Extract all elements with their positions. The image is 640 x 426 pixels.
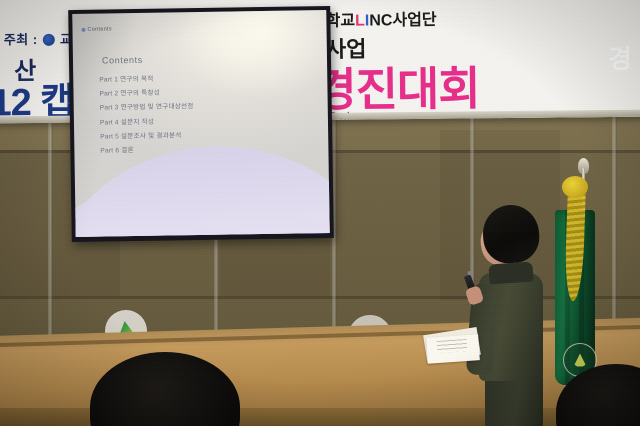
slide-list-item: Part 3 연구방법 및 연구대상선정 <box>100 100 194 111</box>
paper-text-lines <box>437 339 468 353</box>
flag-tassel-knot-icon <box>562 176 588 198</box>
projected-slide: Contents Contents Part 1 연구의 목적 Part 2 연… <box>72 10 329 237</box>
slide-list-item: Part 4 설문지 작성 <box>100 115 194 126</box>
projection-screen: Contents Contents Part 1 연구의 목적 Part 2 연… <box>68 6 334 242</box>
ministry-emblem-icon <box>43 34 55 46</box>
slide-list-item: Part 5 설문조사 및 결과분석 <box>100 129 194 140</box>
banner-right-white-text: 경 <box>608 39 632 76</box>
slide-list-item: Part 1 연구의 목적 <box>99 72 193 83</box>
slide-list-item: Part 6 결론 <box>100 143 194 154</box>
slide-title: Contents <box>102 55 143 66</box>
slide-contents-list: Part 1 연구의 목적 Part 2 연구의 특창성 Part 3 연구방법… <box>99 72 194 154</box>
banner-host-label: 주최 : <box>4 32 38 47</box>
presenter-hair <box>481 203 542 266</box>
banner-linc-l: L <box>355 13 365 30</box>
slide-header-label: Contents <box>87 26 112 32</box>
slide-header: Contents <box>81 26 112 32</box>
banner-linc-c: C <box>381 12 393 29</box>
banner-linc-logo: 학교LINC사업단 <box>325 6 436 31</box>
banner-linc-n: N <box>369 12 381 29</box>
presentation-photo-scene: 주최 : 교육 산 12 캡 입 학교LINC사업단 사업 경진대회 운지 경 <box>0 0 640 426</box>
paper-handout-icon <box>425 331 481 367</box>
banner-linc-suffix: 사업단 <box>392 12 436 29</box>
presenter-collar <box>488 261 533 284</box>
bullet-dot-icon <box>81 28 85 32</box>
slide-list-item: Part 2 연구의 특창성 <box>99 86 193 97</box>
projector-glare <box>173 10 330 102</box>
